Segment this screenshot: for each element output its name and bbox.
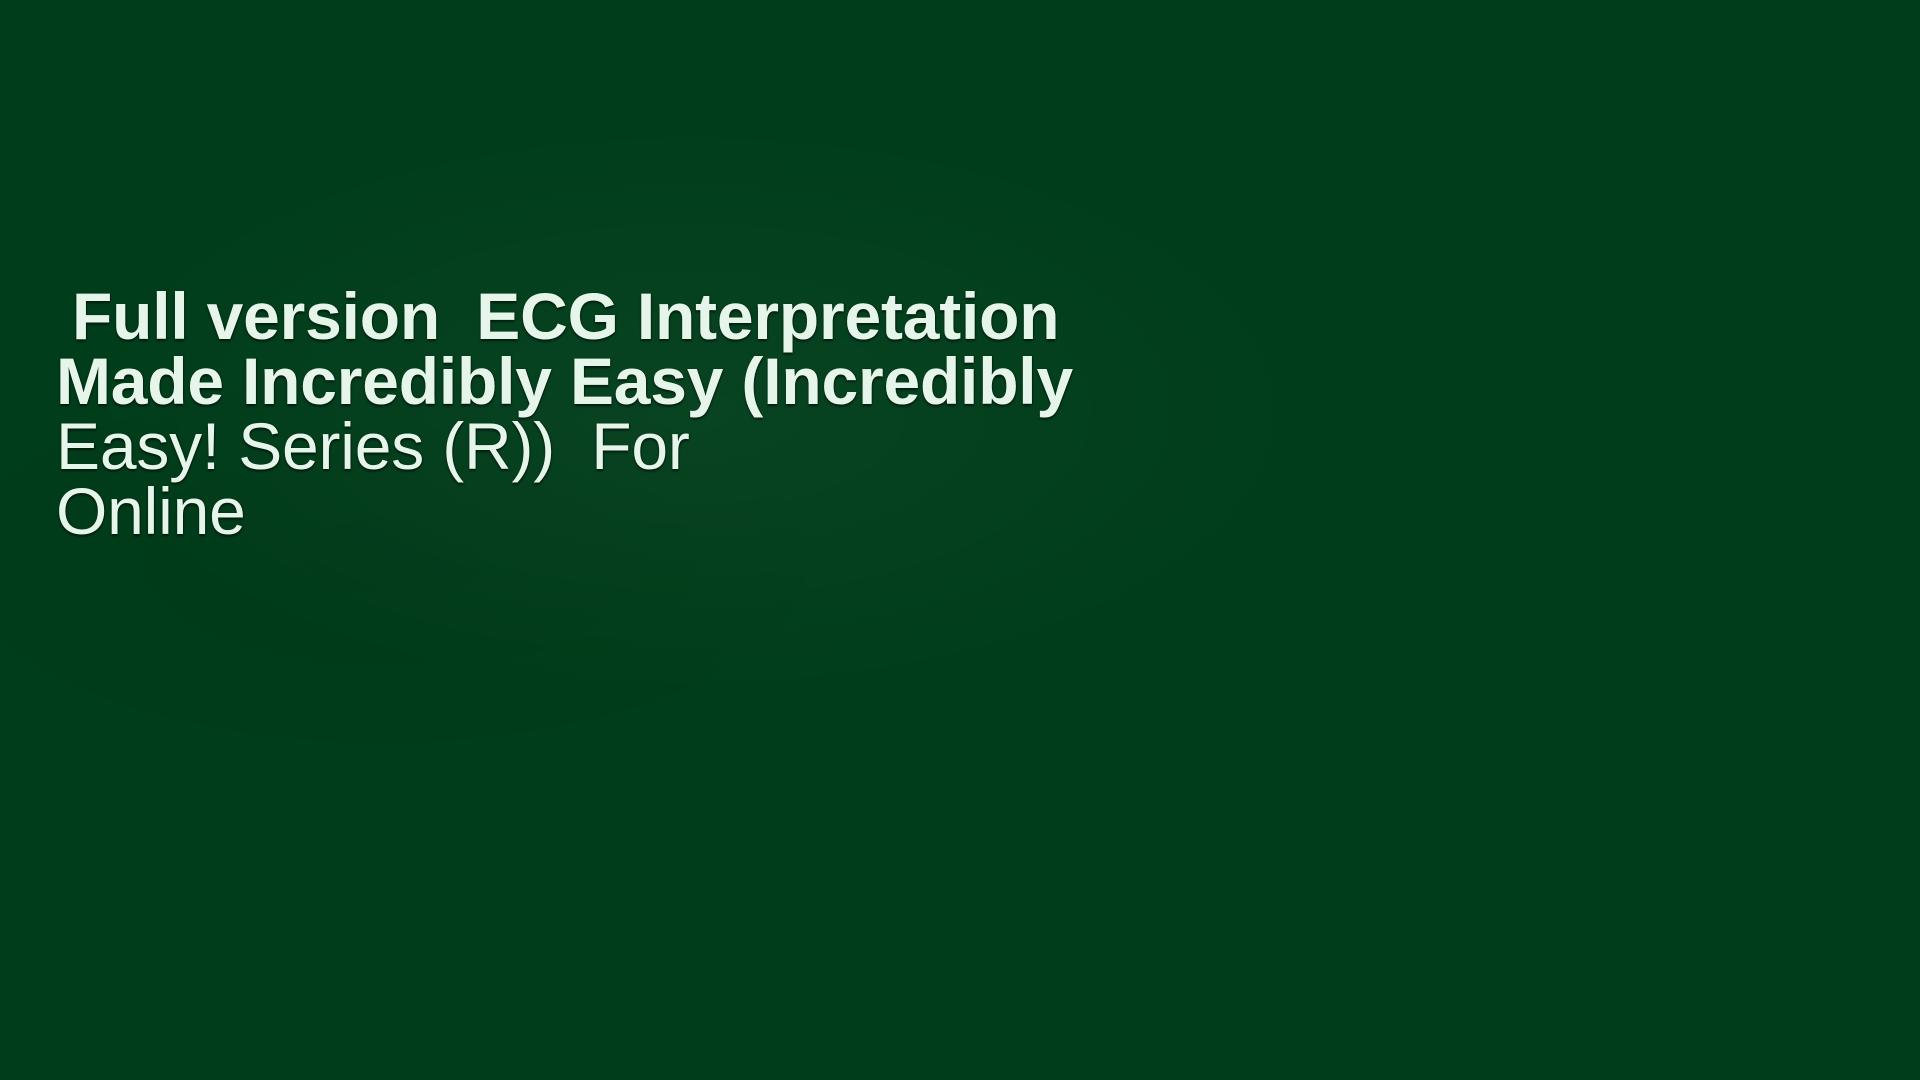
promo-slide: Full version ECG Interpretation Made Inc… — [0, 0, 1920, 1080]
title-line-1: Full version ECG Interpretation — [56, 284, 1246, 349]
title-line-3-bold-segment: Easy! Series (R)) — [56, 409, 555, 483]
title-line-3-regular-segment: For — [555, 409, 690, 483]
title-block: Full version ECG Interpretation Made Inc… — [56, 284, 1246, 544]
title-line-3: Easy! Series (R)) For — [56, 414, 1246, 479]
title-line-4: Online — [56, 479, 1246, 544]
title-line-2: Made Incredibly Easy (Incredibly — [56, 349, 1246, 414]
